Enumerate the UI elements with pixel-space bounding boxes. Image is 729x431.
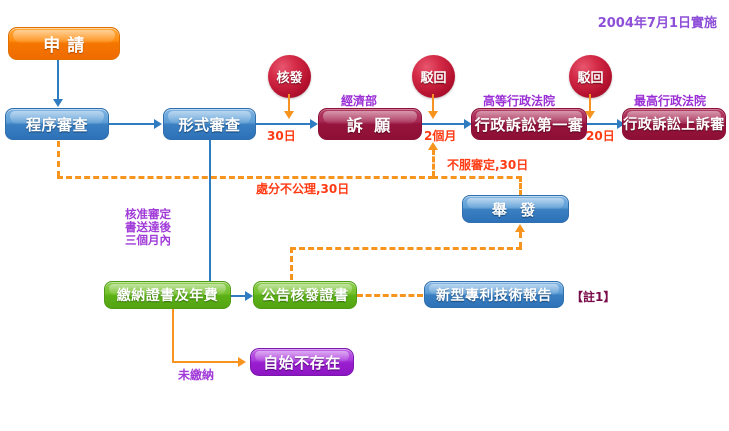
edge-grant-drop [288, 94, 290, 112]
edge-disposition-horizontal [57, 176, 434, 179]
edge-formal-to-petition [256, 123, 312, 125]
arrowhead-payment-to-publish [245, 291, 253, 301]
edge-unpaid-vertical [172, 309, 174, 362]
edge-dismiss1-drop [432, 94, 434, 112]
edge-publish-to-invalidation-vertical [519, 232, 522, 248]
node-invalidation[interactable]: 舉 發 [462, 195, 569, 223]
edge-formal-to-payment [209, 140, 211, 284]
edge-procedural-to-formal [109, 123, 154, 125]
within-three-months-line3: 三個月內 [125, 234, 171, 247]
badge-dismiss-1[interactable]: 駁回 [412, 55, 455, 98]
edge-dismiss2-drop [589, 94, 591, 112]
edge-label-disagree-decision: 不服審定,30日 [447, 156, 528, 173]
arrowhead-grant-drop [284, 111, 294, 119]
arrowhead-unpaid [238, 357, 246, 367]
edge-label-disposition-not-accepted: 處分不公理,30日 [256, 180, 349, 197]
arrowhead-apply-to-procedural [53, 99, 63, 107]
edge-petition-to-first-instance [422, 123, 466, 125]
arrowhead-procedural-to-formal [154, 119, 162, 129]
arrowhead-dismiss2-drop [585, 111, 595, 119]
edge-label-within-three-months: 核准審定 書送達後 三個月內 [125, 208, 171, 247]
node-petition[interactable]: 訴 願 [318, 108, 422, 140]
edge-disposition-up-stub [432, 149, 435, 177]
caption-note-1: 【註1】 [571, 288, 615, 305]
edge-invalidation-down-to-box [519, 176, 522, 196]
node-procedural-review[interactable]: 程序審查 [5, 108, 109, 140]
node-publish-certificate[interactable]: 公告核發證書 [253, 281, 357, 309]
edge-disposition-vertical [57, 141, 60, 177]
edge-label-20-days: 20日 [586, 127, 615, 144]
node-apply[interactable]: 申 請 [8, 27, 120, 60]
node-utility-model-report[interactable]: 新型專利技術報告 [424, 281, 564, 308]
edge-label-not-paid: 未繳納 [178, 366, 214, 383]
node-admin-litigation-first[interactable]: 行政訴訟第一審 [471, 108, 587, 140]
caption-moea: 經濟部 [341, 92, 377, 109]
arrowhead-publish-to-invalidation [515, 224, 525, 232]
edge-report-to-publish [357, 294, 423, 297]
edge-label-30-days: 30日 [267, 127, 296, 144]
edge-apply-to-procedural [57, 60, 59, 100]
badge-dismiss-2[interactable]: 駁回 [569, 55, 612, 98]
implementation-date-label: 2004年7月1日實施 [598, 12, 717, 31]
edge-publish-to-invalidation-horizontal [290, 247, 522, 250]
edge-unpaid-horizontal [172, 361, 240, 363]
flowchart-canvas: 2004年7月1日實施 申 請 程序審查 形式審查 30日 核發 經濟部 訴 願… [0, 0, 729, 431]
badge-grant[interactable]: 核發 [268, 55, 311, 98]
caption-supreme-administrative-court: 最高行政法院 [634, 92, 706, 109]
node-void-ab-initio[interactable]: 自始不存在 [250, 348, 354, 376]
edge-first-to-appeal [587, 123, 619, 125]
node-admin-litigation-appeal[interactable]: 行政訴訟上訴審 [622, 108, 726, 140]
node-formal-review[interactable]: 形式審查 [163, 108, 256, 140]
arrowhead-dismiss1-drop [428, 111, 438, 119]
arrowhead-formal-to-petition [310, 119, 318, 129]
arrowhead-disposition-up [428, 142, 438, 150]
node-pay-certificate-fee[interactable]: 繳納證書及年費 [104, 281, 231, 309]
edge-invalidation-horizontal-top [432, 176, 522, 179]
caption-high-administrative-court: 高等行政法院 [483, 92, 555, 109]
